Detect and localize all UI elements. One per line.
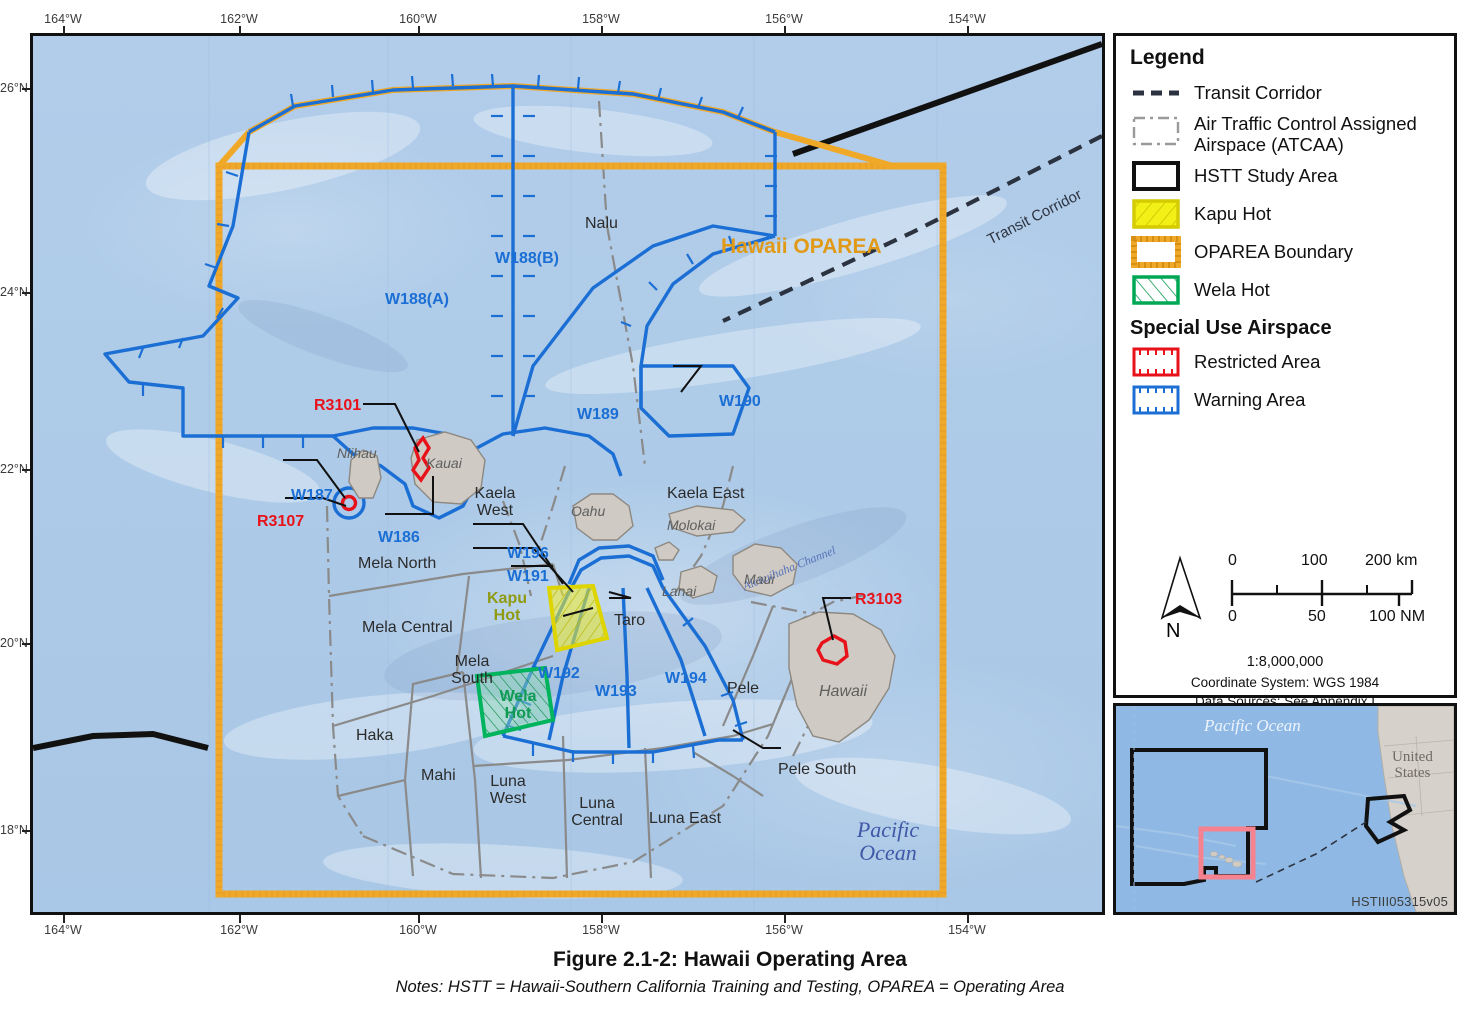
figure-caption: Figure 2.1-2: Hawaii Operating Area Note…: [0, 948, 1460, 997]
longitude-tick-top-5: [967, 26, 969, 34]
warning-area-box-icon: [1130, 383, 1182, 417]
legend-label-atcaa: Air Traffic Control Assigned Airspace (A…: [1194, 114, 1454, 155]
north-label: N: [1166, 620, 1180, 643]
legend-label-transit-corridor: Transit Corridor: [1194, 83, 1322, 104]
inset-map-id: HSTIII05315v05: [1351, 894, 1448, 909]
inset-locator-map[interactable]: Pacific Ocean UnitedStates HSTIII05315v0…: [1113, 703, 1457, 915]
figure-hawaii-operating-area: Hawaii OPAREA PacificOcean Transit Corri…: [0, 0, 1460, 1014]
legend-label-hstt-study-area: HSTT Study Area: [1194, 166, 1338, 187]
longitude-tick-top-2: [418, 26, 420, 34]
north-arrow-icon: [1154, 554, 1212, 630]
longitude-tick-top-0: [63, 26, 65, 34]
longitude-tick-bottom-1: [239, 915, 241, 923]
inset-label-united-states: UnitedStates: [1392, 750, 1433, 782]
longitude-label-bottom-5: 154°W: [948, 923, 986, 937]
longitude-tick-bottom-3: [601, 915, 603, 923]
coordinate-system: Coordinate System: WGS 1984: [1116, 675, 1454, 690]
legend-label-restricted-area: Restricted Area: [1194, 352, 1320, 373]
inset-vector-layer: [1116, 706, 1454, 912]
longitude-tick-bottom-5: [967, 915, 969, 923]
longitude-tick-bottom-4: [784, 915, 786, 923]
atcaa-box-icon: [1130, 114, 1182, 148]
legend-label-oparea-boundary: OPAREA Boundary: [1194, 242, 1353, 263]
longitude-tick-bottom-0: [63, 915, 65, 923]
figure-title: Figure 2.1-2: Hawaii Operating Area: [0, 948, 1460, 972]
legend-subtitle-special-use-airspace: Special Use Airspace: [1116, 309, 1454, 343]
restricted-area-box-icon: [1130, 345, 1182, 379]
kapu-hot-area[interactable]: [549, 586, 607, 650]
longitude-label-top-4: 156°W: [765, 12, 803, 26]
longitude-label-top-5: 154°W: [948, 12, 986, 26]
longitude-tick-top-4: [784, 26, 786, 34]
longitude-label-top-1: 162°W: [220, 12, 258, 26]
legend-item-transit-corridor[interactable]: Transit Corridor: [1116, 74, 1454, 112]
legend-item-kapu-hot[interactable]: Kapu Hot: [1116, 195, 1454, 233]
legend-label-warning-area: Warning Area: [1194, 390, 1305, 411]
longitude-label-bottom-0: 164°W: [44, 923, 82, 937]
scale-km-100: 100: [1301, 552, 1328, 570]
legend-title: Legend: [1116, 36, 1454, 74]
oparea-boundary-box-icon: [1130, 235, 1182, 269]
longitude-label-top-2: 160°W: [399, 12, 437, 26]
legend-item-restricted-area[interactable]: Restricted Area: [1116, 343, 1454, 381]
scale-km-0: 0: [1228, 552, 1237, 570]
longitude-tick-top-3: [601, 26, 603, 34]
map-panel[interactable]: Hawaii OPAREA PacificOcean Transit Corri…: [30, 33, 1105, 915]
longitude-label-bottom-4: 156°W: [765, 923, 803, 937]
longitude-label-top-3: 158°W: [582, 12, 620, 26]
longitude-tick-top-1: [239, 26, 241, 34]
longitude-label-bottom-3: 158°W: [582, 923, 620, 937]
map-vector-layer: [33, 36, 1102, 912]
longitude-label-bottom-1: 162°W: [220, 923, 258, 937]
figure-notes: Notes: HSTT = Hawaii-Southern California…: [0, 978, 1460, 997]
scale-nm-100: 100 NM: [1369, 608, 1425, 626]
legend-panel: Legend Transit Corridor Air Traffic Cont…: [1113, 33, 1457, 698]
latitude-tick-2: [22, 469, 30, 471]
legend-item-wela-hot[interactable]: Wela Hot: [1116, 271, 1454, 309]
scale-nm-0: 0: [1228, 608, 1237, 626]
longitude-tick-bottom-2: [418, 915, 420, 923]
latitude-tick-0: [22, 88, 30, 90]
latitude-tick-4: [22, 830, 30, 832]
legend-item-oparea-boundary[interactable]: OPAREA Boundary: [1116, 233, 1454, 271]
scale-nm-50: 50: [1308, 608, 1326, 626]
transit-corridor-icon: [1130, 76, 1182, 110]
legend-label-wela-hot: Wela Hot: [1194, 280, 1270, 301]
longitude-label-top-0: 164°W: [44, 12, 82, 26]
latitude-tick-3: [22, 643, 30, 645]
scale-km-200: 200 km: [1365, 552, 1417, 570]
legend-item-hstt-study-area[interactable]: HSTT Study Area: [1116, 157, 1454, 195]
hstt-study-area-box-icon: [1130, 159, 1182, 193]
scale-block: N 0 100 200 km 0 50: [1116, 548, 1454, 709]
kapu-hot-swatch-icon: [1130, 197, 1182, 231]
scale-ratio: 1:8,000,000: [1116, 654, 1454, 670]
scale-bar-icon: [1226, 574, 1451, 606]
latitude-tick-1: [22, 292, 30, 294]
legend-label-kapu-hot: Kapu Hot: [1194, 204, 1271, 225]
wela-hot-swatch-icon: [1130, 273, 1182, 307]
inset-label-pacific-ocean: Pacific Ocean: [1204, 716, 1301, 736]
legend-item-warning-area[interactable]: Warning Area: [1116, 381, 1454, 419]
longitude-label-bottom-2: 160°W: [399, 923, 437, 937]
legend-item-atcaa[interactable]: Air Traffic Control Assigned Airspace (A…: [1116, 112, 1454, 157]
